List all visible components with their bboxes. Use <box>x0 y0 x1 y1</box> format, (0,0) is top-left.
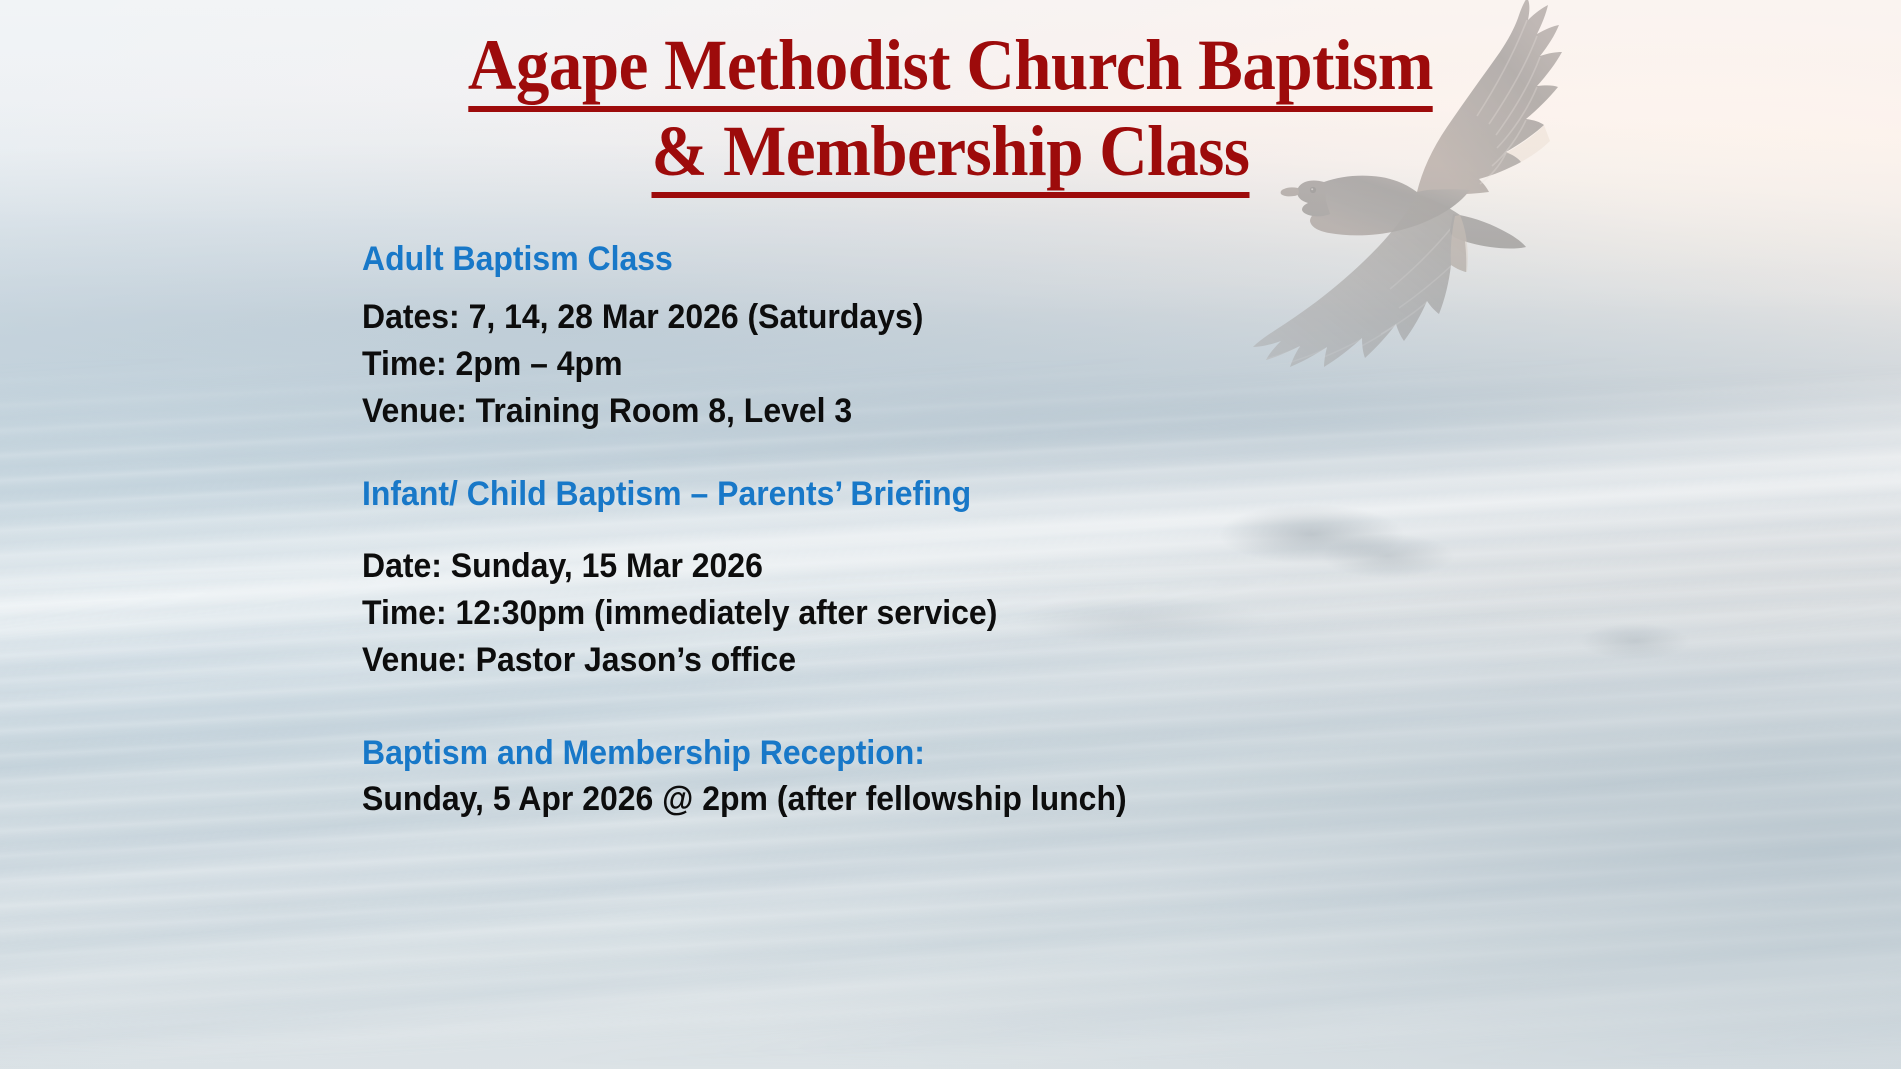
section-heading: Infant/ Child Baptism – Parents’ Briefin… <box>362 473 1584 515</box>
detail-line: Dates: 7, 14, 28 Mar 2026 (Saturdays) <box>362 294 1584 341</box>
section-baptism-membership-reception: Baptism and Membership Reception: Sunday… <box>362 732 1662 823</box>
section-adult-baptism-class: Adult Baptism Class Dates: 7, 14, 28 Mar… <box>362 238 1662 435</box>
section-spacer <box>362 435 1662 473</box>
detail-line: Time: 12:30pm (immediately after service… <box>362 590 1584 637</box>
section-detail-lines: Sunday, 5 Apr 2026 @ 2pm (after fellowsh… <box>362 776 1584 823</box>
content-body: Adult Baptism Class Dates: 7, 14, 28 Mar… <box>362 238 1662 823</box>
detail-line: Sunday, 5 Apr 2026 @ 2pm (after fellowsh… <box>362 776 1584 823</box>
section-spacer <box>362 684 1662 732</box>
section-infant-child-baptism-briefing: Infant/ Child Baptism – Parents’ Briefin… <box>362 473 1662 684</box>
section-heading: Adult Baptism Class <box>362 238 1584 280</box>
detail-line: Venue: Training Room 8, Level 3 <box>362 388 1584 435</box>
section-detail-lines: Dates: 7, 14, 28 Mar 2026 (Saturdays) Ti… <box>362 294 1584 435</box>
slide-canvas: Agape Methodist Church Baptism & Members… <box>0 0 1901 1069</box>
detail-line: Time: 2pm – 4pm <box>362 341 1584 388</box>
section-heading: Baptism and Membership Reception: <box>362 732 1584 774</box>
section-detail-lines: Date: Sunday, 15 Mar 2026 Time: 12:30pm … <box>362 543 1584 684</box>
detail-line: Date: Sunday, 15 Mar 2026 <box>362 543 1584 590</box>
detail-line: Venue: Pastor Jason’s office <box>362 637 1584 684</box>
